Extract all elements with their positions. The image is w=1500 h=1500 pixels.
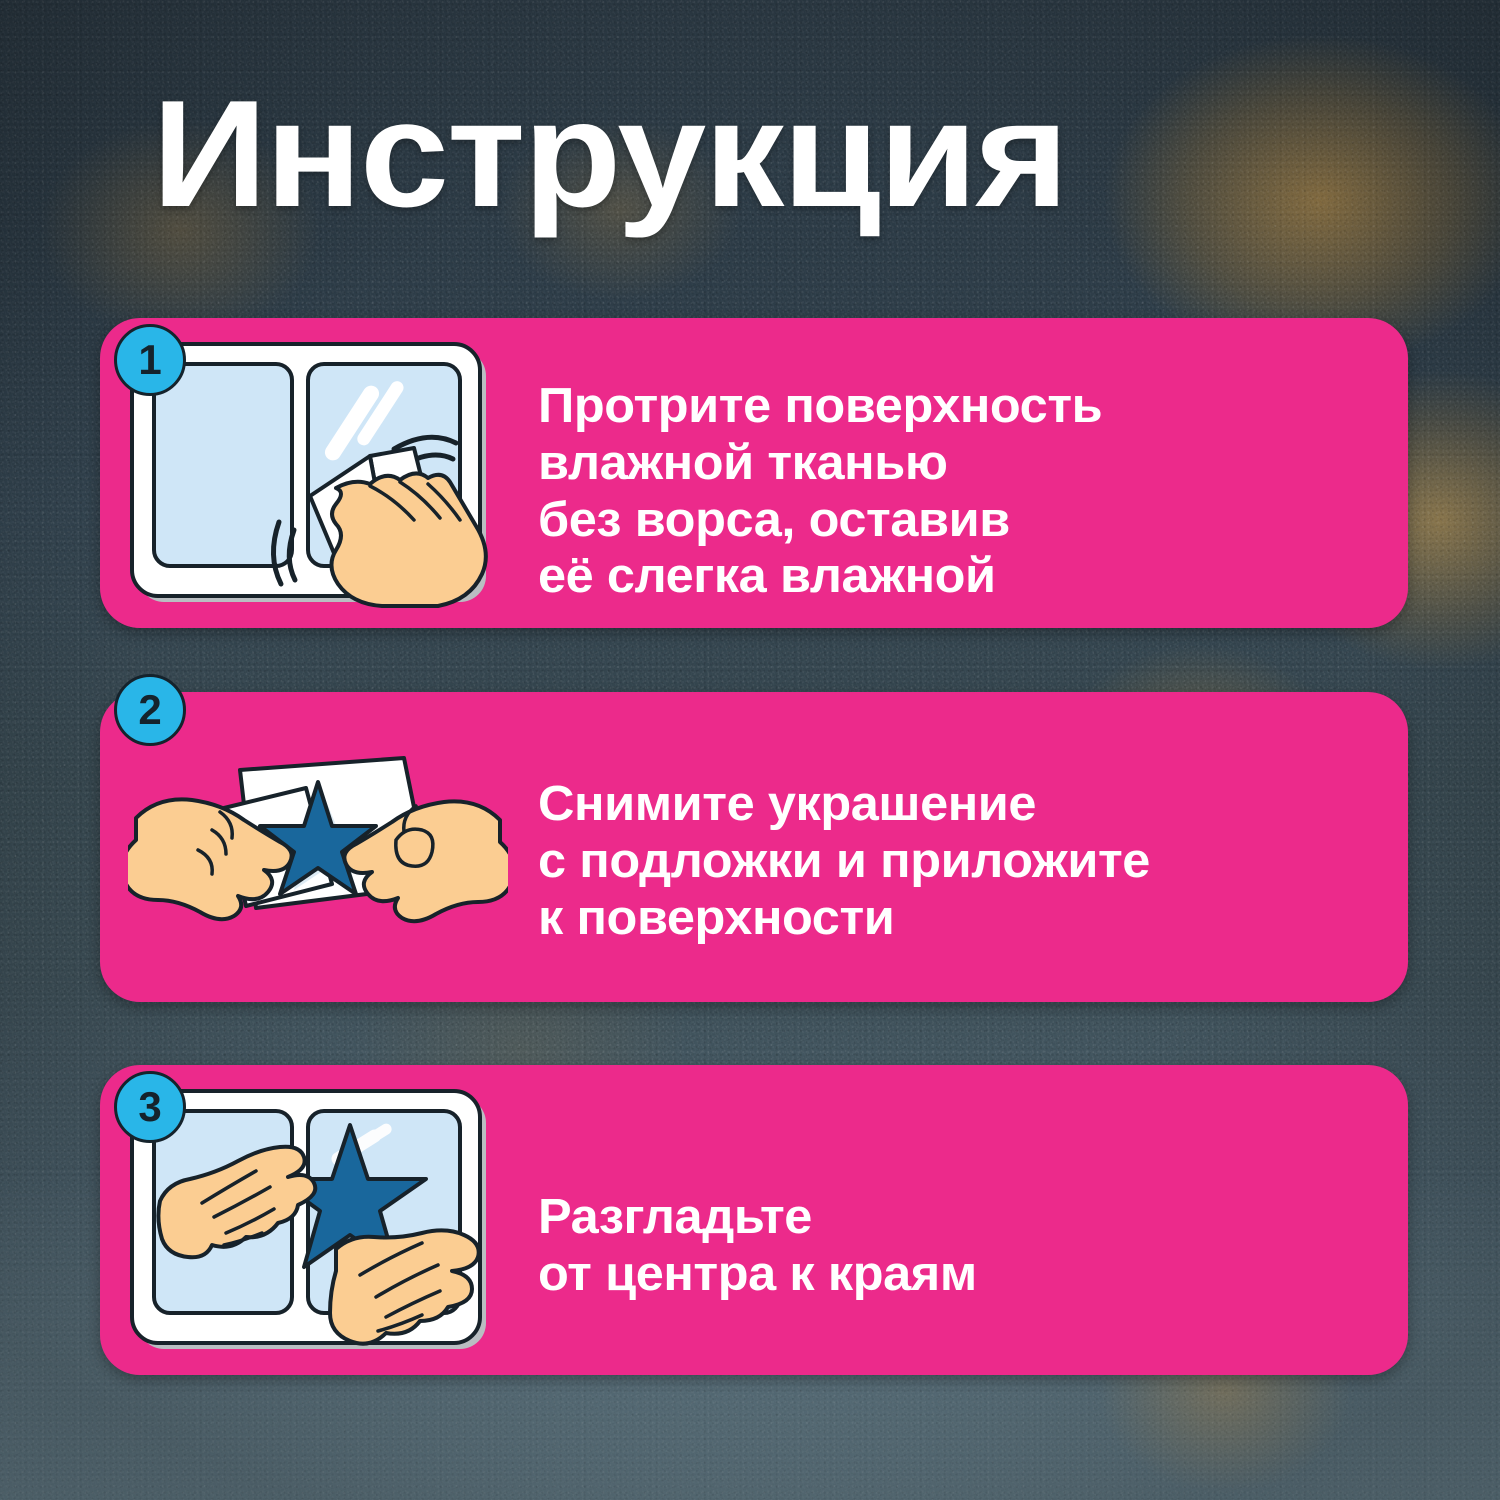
step-number-badge-1: 1 <box>114 324 186 396</box>
step-number-2: 2 <box>138 689 161 731</box>
step-card-3: 3 Разгладьте от центра к краям <box>100 1065 1408 1375</box>
step-card-1: 1 Протрите поверхность влажной тканью бе… <box>100 318 1408 628</box>
hands-peeling-star-sticker-icon <box>128 734 508 964</box>
step-1-text: Протрите поверхность влажной тканью без … <box>538 378 1102 605</box>
step-number-1: 1 <box>138 339 161 381</box>
step-number-badge-2: 2 <box>114 674 186 746</box>
step-2-illustration <box>128 734 508 964</box>
step-card-2: 2 Снимите украшение с подложки и приложи… <box>100 692 1408 1002</box>
step-2-text: Снимите украшение с подложки и приложите… <box>538 776 1150 946</box>
step-number-badge-3: 3 <box>114 1071 186 1143</box>
step-number-3: 3 <box>138 1086 161 1128</box>
step-3-text: Разгладьте от центра к краям <box>538 1189 977 1303</box>
instruction-poster: Инструкция <box>0 0 1500 1500</box>
page-title: Инструкция <box>152 78 1067 230</box>
